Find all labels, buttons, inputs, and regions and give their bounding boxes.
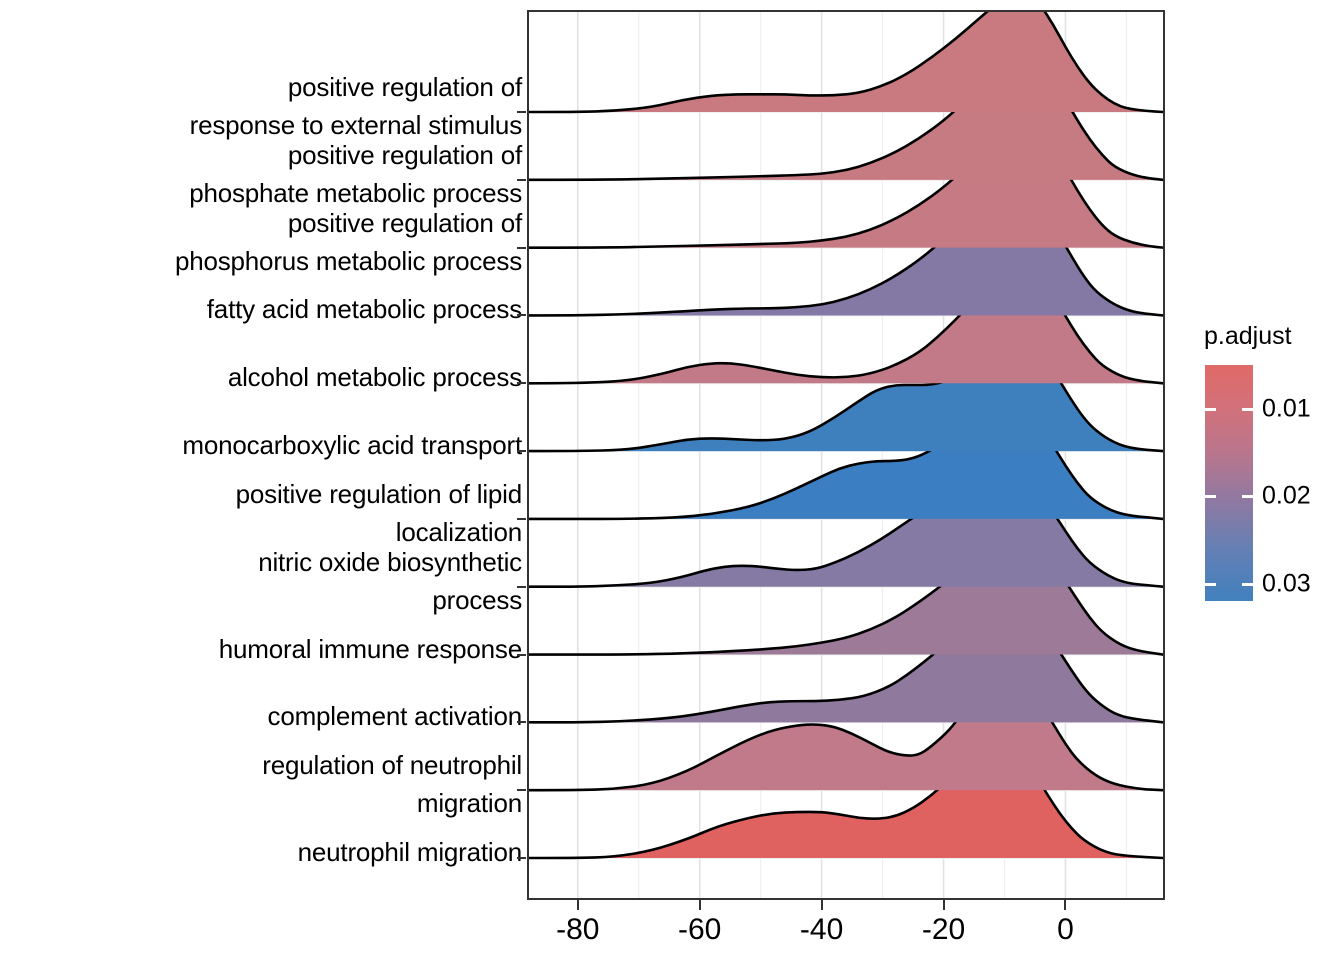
legend-colorbar: [1205, 365, 1253, 601]
y-axis-tick-label: positive regulation of phosphate metabol…: [2, 136, 522, 212]
y-axis-tick-label: regulation of neutrophil migration: [2, 746, 522, 822]
y-axis-tick-label: fatty acid metabolic process: [2, 290, 522, 328]
y-axis-tick-label: positive regulation of response to exter…: [2, 68, 522, 144]
legend-tick: [1205, 408, 1216, 411]
y-axis-tick-label: nitric oxide biosynthetic process: [2, 543, 522, 619]
ridge-1: [529, 12, 1163, 112]
legend-tick-label: 0.03: [1262, 569, 1311, 598]
ridgeline-canvas: [529, 12, 1163, 898]
y-axis-tick: [517, 721, 526, 723]
legend-tick: [1242, 495, 1253, 498]
y-axis-tick: [517, 247, 526, 249]
y-axis-tick: [517, 382, 526, 384]
x-axis-tick: [943, 900, 945, 910]
legend-tick: [1242, 583, 1253, 586]
plot-panel: [527, 10, 1165, 900]
ridgeline-plot-figure: positive regulation of response to exter…: [0, 0, 1344, 960]
x-axis-tick-label: -60: [655, 910, 745, 950]
y-axis-tick-label: monocarboxylic acid transport: [2, 426, 522, 464]
y-axis-tick-label: positive regulation of lipid localizatio…: [2, 475, 522, 551]
legend-tick-label: 0.01: [1262, 394, 1311, 423]
y-axis-tick-label: humoral immune response: [2, 630, 522, 668]
legend-colorbar-wrap: 0.010.020.03: [1200, 365, 1330, 605]
y-axis-tick: [517, 654, 526, 656]
x-axis-tick-label: -40: [777, 910, 867, 950]
y-axis-tick: [517, 789, 526, 791]
x-axis-tick-label: 0: [1020, 910, 1110, 950]
y-axis-tick: [517, 179, 526, 181]
legend-title: p.adjust: [1204, 322, 1340, 351]
y-axis-tick: [517, 111, 526, 113]
y-axis-tick-label: alcohol metabolic process: [2, 358, 522, 396]
legend-tick-label: 0.02: [1262, 482, 1311, 511]
legend-p-adjust: p.adjust 0.010.020.03: [1200, 322, 1340, 605]
legend-tick: [1205, 495, 1216, 498]
legend-tick: [1205, 583, 1216, 586]
y-axis-tick: [517, 314, 526, 316]
y-axis-tick: [517, 450, 526, 452]
x-axis-tick: [699, 900, 701, 910]
y-axis-tick: [517, 518, 526, 520]
x-axis-tick: [577, 900, 579, 910]
y-axis-tick: [517, 586, 526, 588]
legend-tick: [1242, 408, 1253, 411]
y-axis-tick-label: positive regulation of phosphorus metabo…: [2, 204, 522, 280]
x-axis-tick-label: -80: [533, 910, 623, 950]
x-axis-tick: [821, 900, 823, 910]
x-axis-tick: [1064, 900, 1066, 910]
y-axis-tick: [517, 857, 526, 859]
x-axis-tick-label: -20: [899, 910, 989, 950]
y-axis-tick-label: complement activation: [2, 697, 522, 735]
y-axis-label-column: positive regulation of response to exter…: [0, 0, 522, 900]
y-axis-tick-label: neutrophil migration: [2, 833, 522, 871]
